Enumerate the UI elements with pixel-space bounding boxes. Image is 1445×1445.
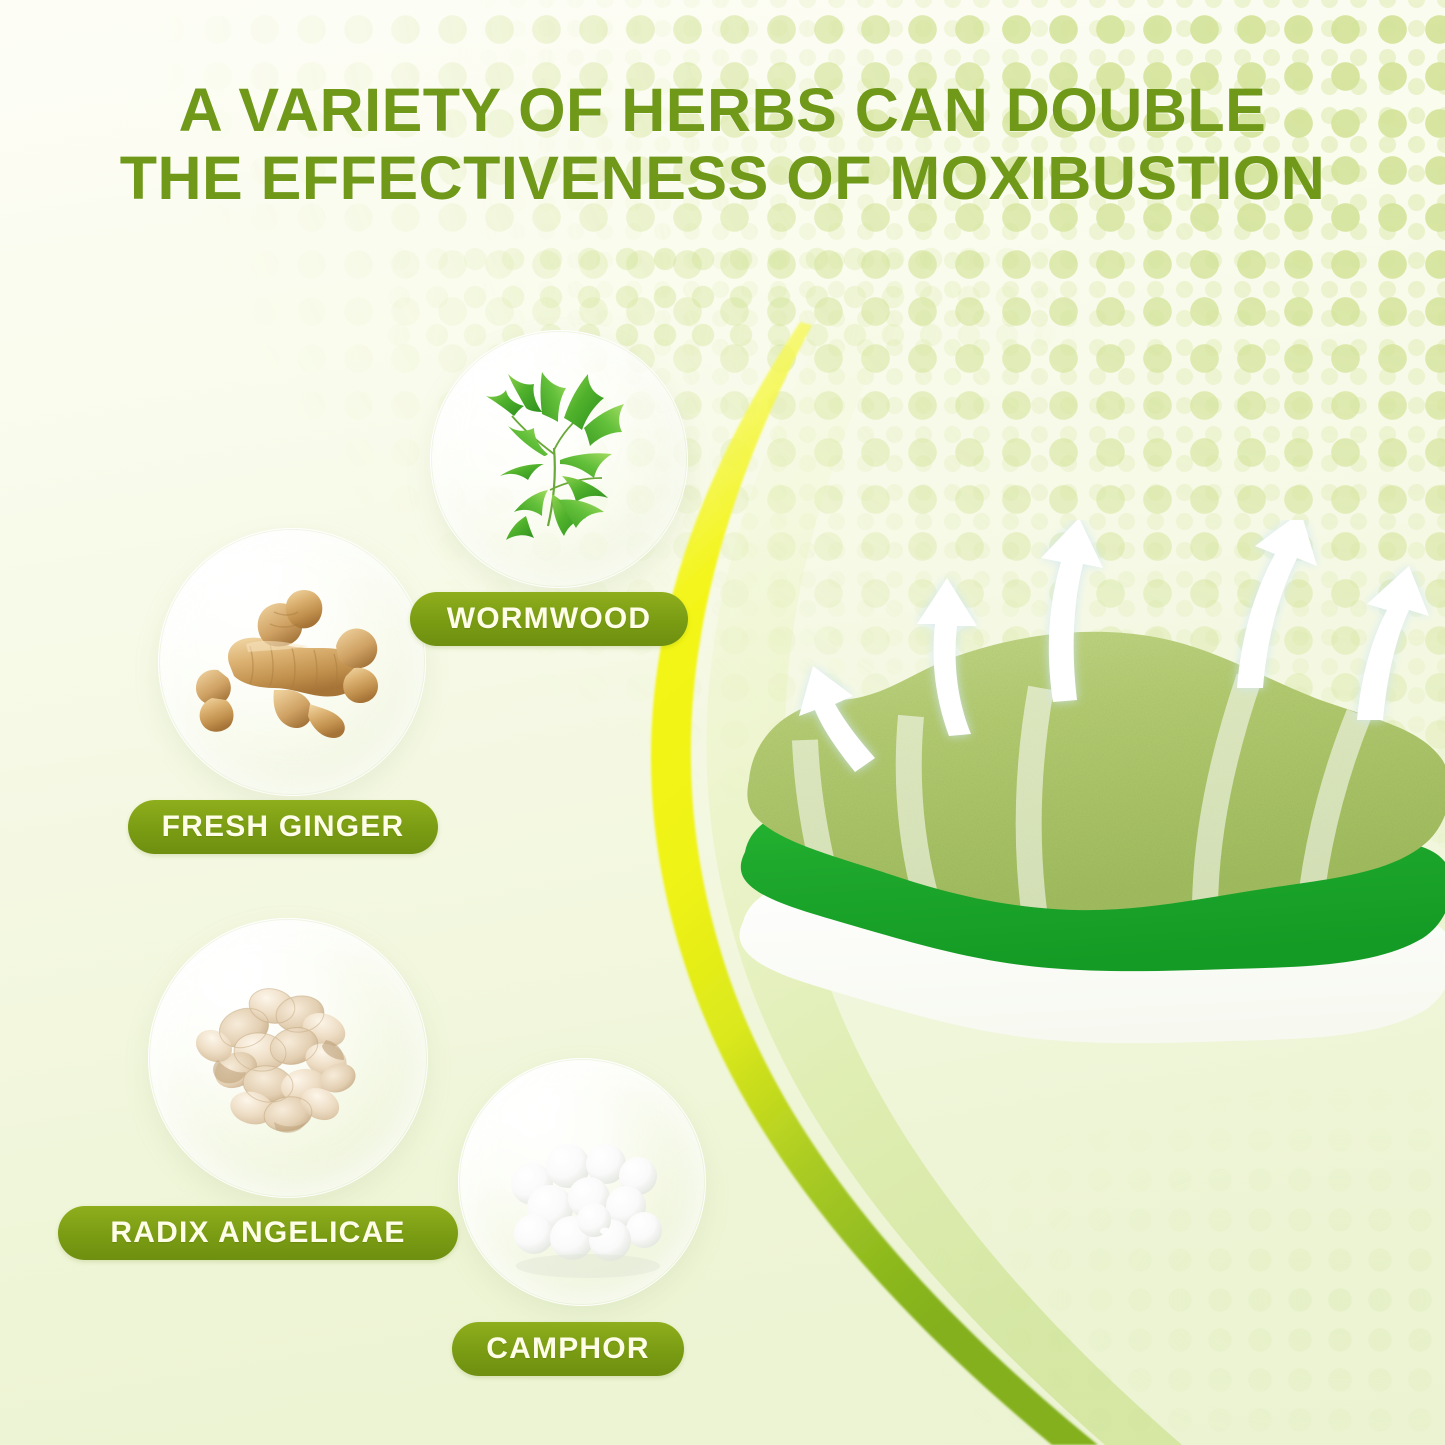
ingredient-label-camphor: CAMPHOR	[452, 1322, 684, 1376]
title-line-2: THE EFFECTIVENESS OF MOXIBUSTION	[40, 144, 1405, 212]
ingredient-label-ginger: FRESH GINGER	[128, 800, 438, 854]
angelica-slices-icon	[148, 918, 428, 1198]
ingredient-bubble-wormwood	[430, 330, 688, 588]
wormwood-leaf-icon	[430, 330, 688, 588]
bubble-content-ginger	[158, 528, 426, 796]
ingredient-bubble-camphor	[458, 1058, 706, 1306]
ingredient-label-wormwood: WORMWOOD	[410, 592, 688, 646]
ingredient-bubble-angelica	[148, 918, 428, 1198]
camphor-balls-icon	[458, 1058, 706, 1306]
patch-layers-graphic	[735, 520, 1445, 1100]
infographic-poster: A VARIETY OF HERBS CAN DOUBLE THE EFFECT…	[0, 0, 1445, 1445]
bubble-content-angelica	[148, 918, 428, 1198]
moxibustion-patch-illustration	[735, 520, 1445, 1100]
bubble-content-wormwood	[430, 330, 688, 588]
ingredient-label-angelica: RADIX ANGELICAE	[58, 1206, 458, 1260]
heat-arrow-5	[1357, 566, 1429, 720]
page-title: A VARIETY OF HERBS CAN DOUBLE THE EFFECT…	[0, 76, 1445, 213]
title-line-1: A VARIETY OF HERBS CAN DOUBLE	[40, 76, 1405, 144]
ginger-root-icon	[158, 528, 426, 796]
bubble-content-camphor	[458, 1058, 706, 1306]
ingredient-bubble-ginger	[158, 528, 426, 796]
halftone-dot-pattern-bottom	[760, 1080, 1445, 1445]
heat-arrow-4	[1237, 520, 1317, 688]
